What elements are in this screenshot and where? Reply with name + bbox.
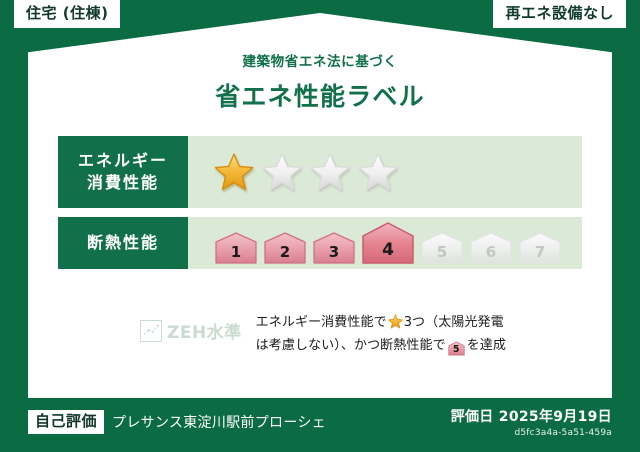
building-type-tag: 住宅 (住棟) [14, 0, 120, 28]
star-empty-icon [262, 152, 302, 192]
scatter-chart-icon [140, 320, 162, 342]
self-evaluation-badge: 自己評価 [28, 410, 104, 434]
evaluation-id: d5fc3a4a-5a51-459a [451, 428, 612, 438]
insulation-performance-label: 断熱性能 [58, 217, 188, 269]
insulation-grade-4: 4 [361, 221, 415, 265]
zeh-desc-part1: エネルギー消費性能で [256, 315, 387, 330]
energy-performance-label: 住宅 (住棟) 再エネ設備なし 建築物省エネ法に基づく 省エネ性能ラベル エネル… [0, 0, 640, 452]
inline-grade-value: 5 [448, 341, 465, 358]
zeh-mark-label: ZEH水準 [167, 318, 242, 343]
star-empty-icon [358, 152, 398, 192]
insulation-grade-3: 3 [312, 231, 356, 265]
insulation-grade-3-value: 3 [329, 243, 339, 265]
inline-grade-badge: 5 [448, 341, 465, 356]
zeh-desc-part3: を達成 [467, 338, 506, 353]
evaluation-date-value: 2025年9月19日 [499, 409, 612, 425]
title-block: 建築物省エネ法に基づく 省エネ性能ラベル [0, 50, 640, 113]
building-name: プレサンス東淀川駅前プローシェ [112, 412, 326, 432]
renewable-equipment-tag: 再エネ設備なし [493, 0, 626, 28]
insulation-grade-6-value: 6 [486, 243, 496, 265]
insulation-grade-2-value: 2 [280, 243, 290, 265]
label-subtitle: 建築物省エネ法に基づく [0, 50, 640, 70]
energy-label-line1: エネルギー [78, 150, 168, 172]
star-filled-icon [214, 152, 254, 192]
insulation-grade-6: 6 [469, 231, 513, 265]
insulation-grade-7-value: 7 [535, 243, 545, 265]
zeh-description: エネルギー消費性能で3つ（太陽光発電 は考慮しない）、かつ断熱性能で5を達成 [256, 312, 506, 358]
star-empty-icon [310, 152, 350, 192]
insulation-grade-4-value: 4 [382, 240, 394, 265]
evaluation-date: 評価日 2025年9月19日 [451, 406, 612, 426]
evaluation-info: 評価日 2025年9月19日 d5fc3a4a-5a51-459a [451, 406, 612, 438]
label-footer: 自己評価 プレサンス東淀川駅前プローシェ 評価日 2025年9月19日 d5fc… [28, 402, 612, 442]
energy-star-rating [188, 136, 582, 208]
energy-label-line2: 消費性能 [87, 172, 159, 194]
evaluation-date-label: 評価日 [451, 409, 494, 425]
insulation-performance-row: 断熱性能 1 [58, 217, 582, 269]
performance-rows: エネルギー 消費性能 [58, 136, 582, 278]
insulation-grade-1: 1 [214, 231, 258, 265]
label-title: 省エネ性能ラベル [0, 77, 640, 113]
insulation-label-text: 断熱性能 [87, 232, 159, 254]
insulation-grade-5-value: 5 [437, 243, 447, 265]
zeh-standard-note: ZEH水準 エネルギー消費性能で3つ（太陽光発電 は考慮しない）、かつ断熱性能で… [58, 312, 582, 358]
energy-performance-row: エネルギー 消費性能 [58, 136, 582, 208]
insulation-grade-2: 2 [263, 231, 307, 265]
insulation-grade-5: 5 [420, 231, 464, 265]
insulation-grade-1-value: 1 [231, 243, 241, 265]
zeh-desc-star-count: 3つ（太陽光発電 [404, 315, 504, 330]
energy-performance-label: エネルギー 消費性能 [58, 136, 188, 208]
insulation-grade-scale: 1 2 3 [188, 217, 582, 269]
insulation-grade-7: 7 [518, 231, 562, 265]
zeh-mark: ZEH水準 [140, 318, 242, 343]
inline-star-icon [388, 314, 403, 329]
zeh-desc-part2: は考慮しない）、かつ断熱性能で [256, 338, 446, 353]
